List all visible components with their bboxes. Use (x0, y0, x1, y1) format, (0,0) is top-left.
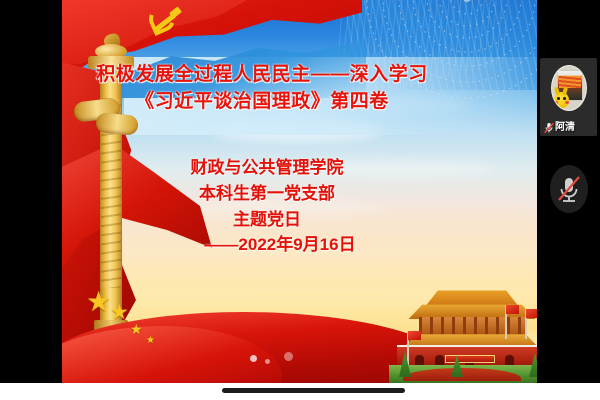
slide-subtitle-line-2: 本科生第一党支部 (122, 181, 412, 207)
slide-subtitle-line-3: 主题党日 (122, 207, 412, 233)
slide-title: 积极发展全过程人民民主——深入学习 《习近平谈治国理政》第四卷 (62, 62, 462, 116)
home-indicator-bar[interactable] (222, 388, 405, 393)
mic-muted-icon (544, 121, 554, 133)
pikachu-eye (557, 97, 560, 100)
ribbon-highlight-dot (265, 359, 270, 364)
pikachu-cheek (565, 101, 569, 104)
participants-sidebar: 阿清 (537, 0, 600, 383)
ribbon-highlight-dot (284, 352, 293, 361)
painting-sky (559, 76, 581, 88)
gold-star: ★ (130, 322, 143, 336)
slide-title-line-2: 《习近平谈治国理政》第四卷 (62, 89, 462, 116)
shared-screen-slide[interactable]: ★ ★ ★ ★ (62, 0, 537, 383)
avatar (551, 65, 587, 111)
red-flag (506, 305, 519, 314)
avatar-pikachu-icon (554, 92, 569, 108)
slide-subtitle-date: ——2022年9月16日 (122, 232, 412, 258)
pikachu-eye (563, 97, 566, 100)
red-flag (526, 309, 537, 318)
video-stage: ★ ★ ★ ★ (0, 0, 600, 383)
hammer-head (169, 6, 182, 18)
slide-subtitle-line-1: 财政与公共管理学院 (122, 155, 412, 181)
slide-title-line-1: 积极发展全过程人民民主——深入学习 (62, 62, 462, 89)
red-flag (408, 331, 421, 340)
slide-subtitle: 财政与公共管理学院 本科生第一党支部 主题党日 ——2022年9月16日 (122, 155, 412, 258)
ribbon-highlight-dot (250, 355, 257, 362)
participant-tile[interactable]: 阿清 (540, 58, 597, 136)
screen-root: ★ ★ ★ ★ (0, 0, 600, 400)
pikachu-cheek (554, 101, 558, 104)
gold-star: ★ (146, 336, 155, 346)
participant-name: 阿清 (555, 122, 575, 133)
participant-name-row: 阿清 (544, 121, 575, 133)
gold-star: ★ (110, 302, 129, 323)
gold-star: ★ (86, 288, 111, 316)
mic-muted-icon (550, 165, 588, 213)
tiananmen-gate (393, 285, 537, 383)
tiananmen-columns (419, 317, 527, 337)
sickle-shape (145, 2, 179, 36)
cpc-hammer-sickle-emblem-icon (147, 4, 181, 34)
tiananmen-slogan-banner (445, 355, 495, 363)
mic-toggle-button[interactable] (550, 165, 588, 213)
